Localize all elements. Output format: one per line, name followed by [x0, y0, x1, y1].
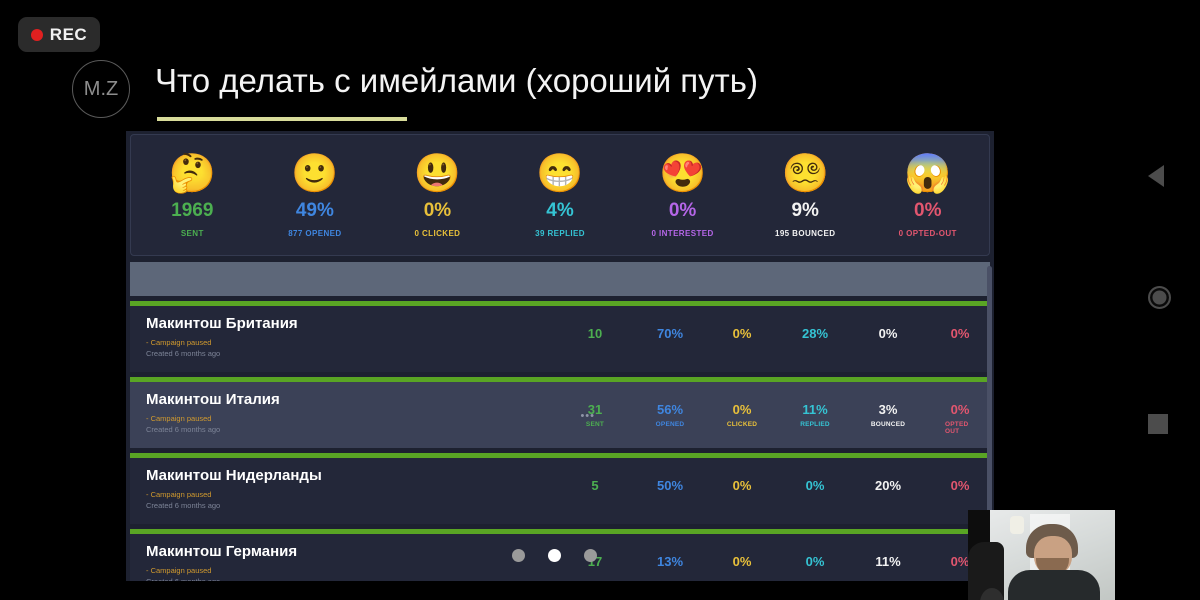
logo-text: M.Z — [84, 78, 118, 101]
metric-value: 3% — [879, 402, 898, 417]
lamp-shape — [1010, 516, 1024, 534]
metric-value: 0% — [806, 478, 825, 493]
stat-label: 195 BOUNCED — [775, 229, 835, 238]
metric-opted_out: 0% — [951, 554, 970, 569]
metric-value: 28% — [802, 326, 828, 341]
metric-clicked: 0% — [733, 554, 752, 569]
dizzy-face-emoji: 😵‍💫 — [782, 152, 829, 196]
grinning-face-emoji: 😃 — [414, 152, 461, 196]
campaign-rows-list: Макинтош Британия- Campaign pausedCreate… — [130, 301, 990, 581]
screaming-face-emoji: 😱 — [904, 152, 951, 196]
metric-column-label: CLICKED — [727, 421, 757, 428]
metric-value: 5 — [591, 478, 598, 493]
metric-value: 0% — [733, 554, 752, 569]
metric-opted_out: 0% — [951, 326, 970, 341]
metric-value: 11% — [875, 554, 900, 569]
metric-opened: 56%OPENED — [656, 402, 685, 428]
stat-value: 0% — [914, 200, 941, 222]
stat-card-replied: 😁4%39 REPLIED — [499, 152, 622, 238]
metric-column-label: OPENED — [656, 421, 685, 428]
beaming-face-emoji: 😁 — [536, 152, 583, 196]
metric-value: 50% — [657, 478, 683, 493]
metric-replied: 0% — [806, 554, 825, 569]
campaign-row-wrapper: Макинтош Нидерланды- Campaign pausedCrea… — [130, 453, 990, 524]
metric-opted_out: 0% — [951, 478, 970, 493]
screen-root: REC M.Z Что делать с имейлами (хороший п… — [0, 0, 1200, 600]
metric-sent: 5 — [591, 478, 598, 493]
pagination-dots[interactable] — [512, 549, 597, 562]
metric-opened: 13% — [657, 554, 683, 569]
row-metrics: 1070%0%28%0%0% — [130, 306, 990, 372]
metric-replied: 28% — [802, 326, 828, 341]
page-title: Что делать с имейлами (хороший путь) — [155, 62, 758, 100]
metric-value: 0% — [951, 402, 970, 417]
metric-value: 10 — [588, 326, 602, 341]
metric-bounced: 11% — [875, 554, 900, 569]
metric-column-label: REPLIED — [800, 421, 830, 428]
stat-label: 39 REPLIED — [535, 229, 585, 238]
metric-bounced: 0% — [879, 326, 898, 341]
campaign-row-wrapper: Макинтош Британия- Campaign pausedCreate… — [130, 301, 990, 372]
metric-opened: 50% — [657, 478, 683, 493]
metric-column-label: OPTED OUT — [945, 421, 975, 435]
metric-replied: 11%REPLIED — [800, 402, 830, 428]
metric-value: 0% — [951, 478, 970, 493]
webcam-picture-in-picture[interactable] — [968, 510, 1115, 600]
stat-value: 4% — [546, 200, 573, 222]
table-row[interactable]: Макинтош Британия- Campaign pausedCreate… — [130, 306, 990, 372]
stat-value: 9% — [791, 200, 818, 222]
home-icon[interactable] — [1148, 286, 1171, 309]
metric-clicked: 0%CLICKED — [727, 402, 757, 428]
microphone-ring — [980, 588, 1004, 600]
stat-card-opened: 🙂49%877 OPENED — [254, 152, 377, 238]
summary-stats-bar: 🤔1969SENT🙂49%877 OPENED😃0%0 CLICKED😁4%39… — [130, 134, 990, 256]
stat-label: 0 INTERESTED — [652, 229, 714, 238]
heart-eyes-emoji: 😍 — [659, 152, 706, 196]
metric-opted_out: 0%OPTED OUT — [945, 402, 975, 435]
table-row[interactable]: Макинтош Нидерланды- Campaign pausedCrea… — [130, 458, 990, 524]
back-icon[interactable] — [1148, 165, 1164, 187]
stat-label: 877 OPENED — [288, 229, 341, 238]
record-dot-icon — [31, 29, 43, 41]
metric-value: 13% — [657, 554, 683, 569]
metric-bounced: 3%BOUNCED — [871, 402, 905, 428]
presenter-body — [1008, 570, 1100, 600]
metric-opened: 70% — [657, 326, 683, 341]
presenter-logo: M.Z — [72, 60, 130, 118]
stat-value: 49% — [296, 200, 334, 222]
stat-value: 0% — [669, 200, 696, 222]
stat-label: 0 OPTED-OUT — [899, 229, 957, 238]
stat-label: 0 CLICKED — [415, 229, 461, 238]
metric-value: 0% — [951, 554, 970, 569]
row-metrics: 31SENT56%OPENED0%CLICKED11%REPLIED3%BOUN… — [130, 382, 990, 448]
stat-card-interested: 😍0%0 INTERESTED — [621, 152, 744, 238]
stat-card-sent: 🤔1969SENT — [131, 152, 254, 238]
metric-clicked: 0% — [733, 478, 752, 493]
metric-bounced: 20% — [875, 478, 901, 493]
metric-clicked: 0% — [733, 326, 752, 341]
metric-value: 31 — [588, 402, 602, 417]
table-row[interactable]: Макинтош Италия- Campaign pausedCreated … — [130, 382, 990, 448]
metric-value: 0% — [806, 554, 825, 569]
campaign-dashboard-panel: 🤔1969SENT🙂49%877 OPENED😃0%0 CLICKED😁4%39… — [126, 131, 994, 581]
metric-value: 0% — [951, 326, 970, 341]
stat-value: 0% — [424, 200, 451, 222]
recording-badge: REC — [18, 17, 100, 52]
pagination-dot[interactable] — [548, 549, 561, 562]
metric-value: 0% — [733, 478, 752, 493]
metric-value: 20% — [875, 478, 901, 493]
thinking-face-emoji: 🤔 — [169, 152, 216, 196]
metric-column-label: BOUNCED — [871, 421, 905, 428]
recents-icon[interactable] — [1148, 414, 1168, 434]
metric-sent: 31SENT — [586, 402, 604, 428]
title-underline — [157, 117, 407, 121]
slight-smile-emoji: 🙂 — [291, 152, 338, 196]
metric-value: 0% — [733, 326, 752, 341]
metric-value: 11% — [802, 402, 827, 417]
stat-label: SENT — [181, 229, 204, 238]
metric-replied: 0% — [806, 478, 825, 493]
stat-card-bounced: 😵‍💫9%195 BOUNCED — [744, 152, 867, 238]
stat-value: 1969 — [171, 200, 213, 222]
campaign-row-wrapper: Макинтош Италия- Campaign pausedCreated … — [130, 377, 990, 448]
metric-value: 70% — [657, 326, 683, 341]
metric-value: 56% — [657, 402, 683, 417]
metric-value: 0% — [879, 326, 898, 341]
metric-column-label: SENT — [586, 421, 604, 428]
stat-card-clicked: 😃0%0 CLICKED — [376, 152, 499, 238]
row-metrics: 550%0%0%20%0% — [130, 458, 990, 524]
metric-value: 0% — [733, 402, 752, 417]
pagination-dot[interactable] — [512, 549, 525, 562]
metric-sent: 10 — [588, 326, 602, 341]
section-separator-band — [130, 262, 990, 296]
recording-label: REC — [50, 25, 87, 45]
microphone-shape — [968, 542, 1004, 600]
stat-card-opted-out: 😱0%0 OPTED-OUT — [866, 152, 989, 238]
pagination-dot[interactable] — [584, 549, 597, 562]
